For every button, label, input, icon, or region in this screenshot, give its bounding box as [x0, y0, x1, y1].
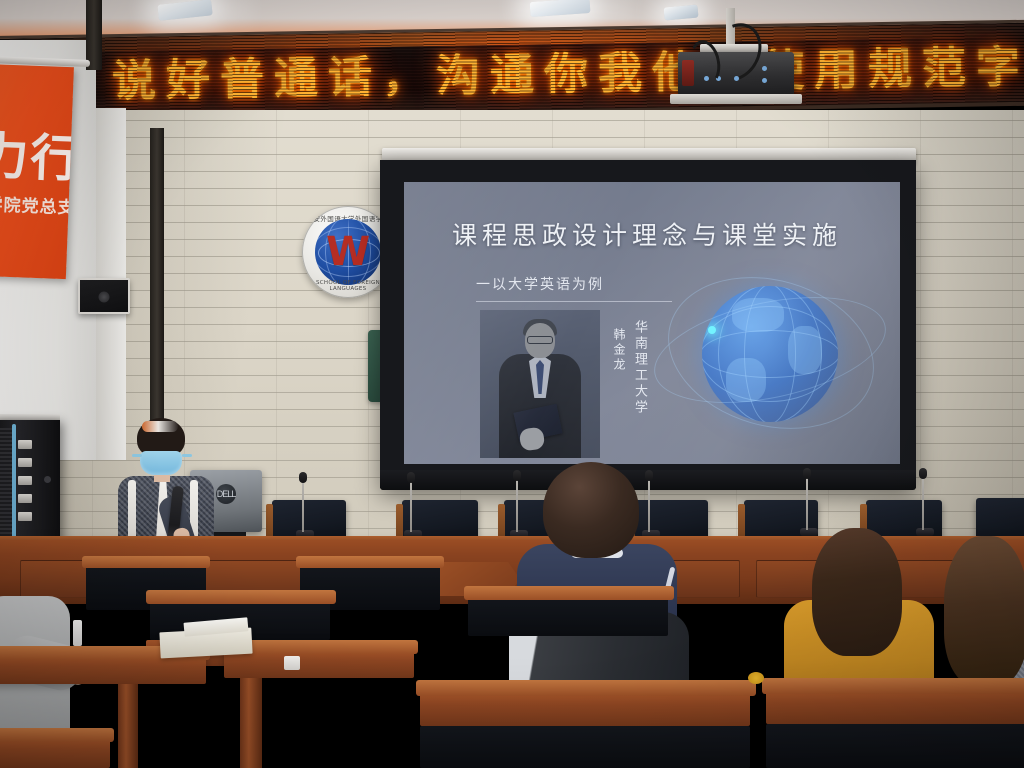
- bench-backrest-foreground-right: [766, 724, 1024, 768]
- presenter-mask-band-left: [132, 454, 142, 457]
- bench-top-foreground-left: [0, 728, 114, 742]
- mic-stem-5: [806, 476, 808, 530]
- mic-stem-4: [648, 478, 650, 532]
- slide-title: 课程思政设计理念与课堂实施: [452, 216, 842, 252]
- rack-knob: [44, 476, 51, 483]
- lecture-hall-scene: 说好普通话，沟通你我他；使用规范字，方便 力行 语学院党总支 西安外国语大学外国…: [0, 0, 1024, 768]
- presenter-mask-band-right: [182, 454, 192, 457]
- mic-base-5: [800, 528, 818, 536]
- slide-subtitle: 一以大学英语为例: [476, 274, 604, 294]
- presenter-face-mask: [140, 451, 182, 475]
- wall-trim-left: [150, 128, 164, 460]
- rack-slot-3: [18, 476, 32, 485]
- audience-far-right-hair: [944, 536, 1024, 686]
- orange-banner-sub-text: 语学院党总支: [0, 189, 74, 218]
- mic-stem-2: [410, 480, 412, 532]
- bench-top-row5: [416, 680, 756, 696]
- paper-cup: [284, 656, 300, 670]
- mic-head-5: [803, 468, 811, 479]
- ceiling-light-beam-2: [510, 0, 630, 22]
- bench-top-row3-a: [146, 590, 336, 604]
- rack-slot-1: [18, 440, 32, 449]
- audience-center-hair: [543, 462, 639, 558]
- mic-stem-6: [922, 476, 924, 530]
- rack-slot-4: [18, 494, 32, 503]
- projector-indicator-5: [762, 78, 767, 83]
- slide-speaker-organization: 华南理工大学: [630, 320, 649, 416]
- water-bottle: [73, 620, 82, 646]
- bench-leg-row4-mid: [240, 678, 262, 768]
- projector-indicator-4: [762, 66, 767, 71]
- emblem-letter-w: W: [326, 232, 370, 272]
- mic-head-6: [919, 468, 927, 479]
- mic-head-1: [299, 472, 307, 483]
- mic-stem-3: [516, 478, 518, 532]
- presenter-hair-accessory: [142, 421, 178, 432]
- orange-banner-main-text: 力行: [0, 116, 74, 192]
- slide-speaker-portrait: [480, 310, 600, 458]
- led-scrolling-banner: 说好普通话，沟通你我他；使用规范字，方便: [0, 20, 1024, 122]
- projection-screen-frame: 课程思政设计理念与课堂实施 一以大学英语为例 韩金龙 华南理工大学: [380, 160, 916, 488]
- orange-vertical-banner: 力行 语学院党总支: [0, 64, 74, 279]
- led-banner-text: 说好普通话，沟通你我他；使用规范字，方便: [111, 28, 1024, 109]
- wall-speaker: [78, 278, 130, 314]
- speaker-cone-icon: [99, 291, 110, 302]
- bench-backrest-foreground: [420, 726, 750, 768]
- mic-head-4: [645, 470, 653, 481]
- projected-slide: 课程思政设计理念与课堂实施 一以大学英语为例 韩金龙 华南理工大学: [404, 182, 900, 464]
- mic-head-2: [407, 472, 415, 483]
- bench-top-row2-a: [82, 556, 210, 568]
- globe-orbit-arc-2: [650, 254, 892, 452]
- bench-top-row2-b: [296, 556, 444, 568]
- audience-mustard-hair: [812, 528, 902, 656]
- rack-slot-5: [18, 512, 32, 521]
- mic-base-6: [916, 528, 934, 536]
- bench-top-row5-right: [762, 678, 1024, 694]
- bench-backrest-row3-b: [468, 596, 668, 636]
- rack-slot-2: [18, 458, 32, 467]
- portrait-glasses-icon: [527, 336, 553, 344]
- mic-head-3: [513, 470, 521, 481]
- bench-leg-row4-left: [118, 684, 138, 768]
- slide-speaker-name: 韩金龙: [611, 328, 628, 373]
- projector-base-tray: [670, 94, 802, 104]
- slide-divider: [476, 301, 672, 302]
- ceiling-light-beam: [140, 0, 250, 24]
- yellow-flower: [748, 672, 764, 684]
- bench-top-row3-b: [464, 586, 674, 600]
- mic-stem-1: [302, 480, 304, 532]
